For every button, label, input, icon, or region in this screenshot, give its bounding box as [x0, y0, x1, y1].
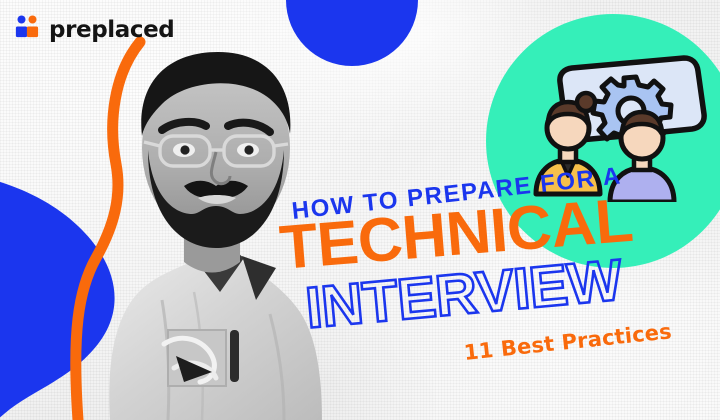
banner-root: HOW TO PREPARE FOR A TECHNICAL INTERVIEW…	[0, 0, 720, 420]
headline-block: HOW TO PREPARE FOR A TECHNICAL INTERVIEW…	[286, 176, 706, 386]
mentor-portrait	[44, 0, 324, 420]
two-person-avatars-icon	[14, 14, 40, 45]
brand-logo-text: preplaced	[49, 17, 174, 43]
headline-tagline: 11 Best Practices	[463, 319, 673, 365]
brand-logo[interactable]: preplaced	[14, 14, 174, 45]
